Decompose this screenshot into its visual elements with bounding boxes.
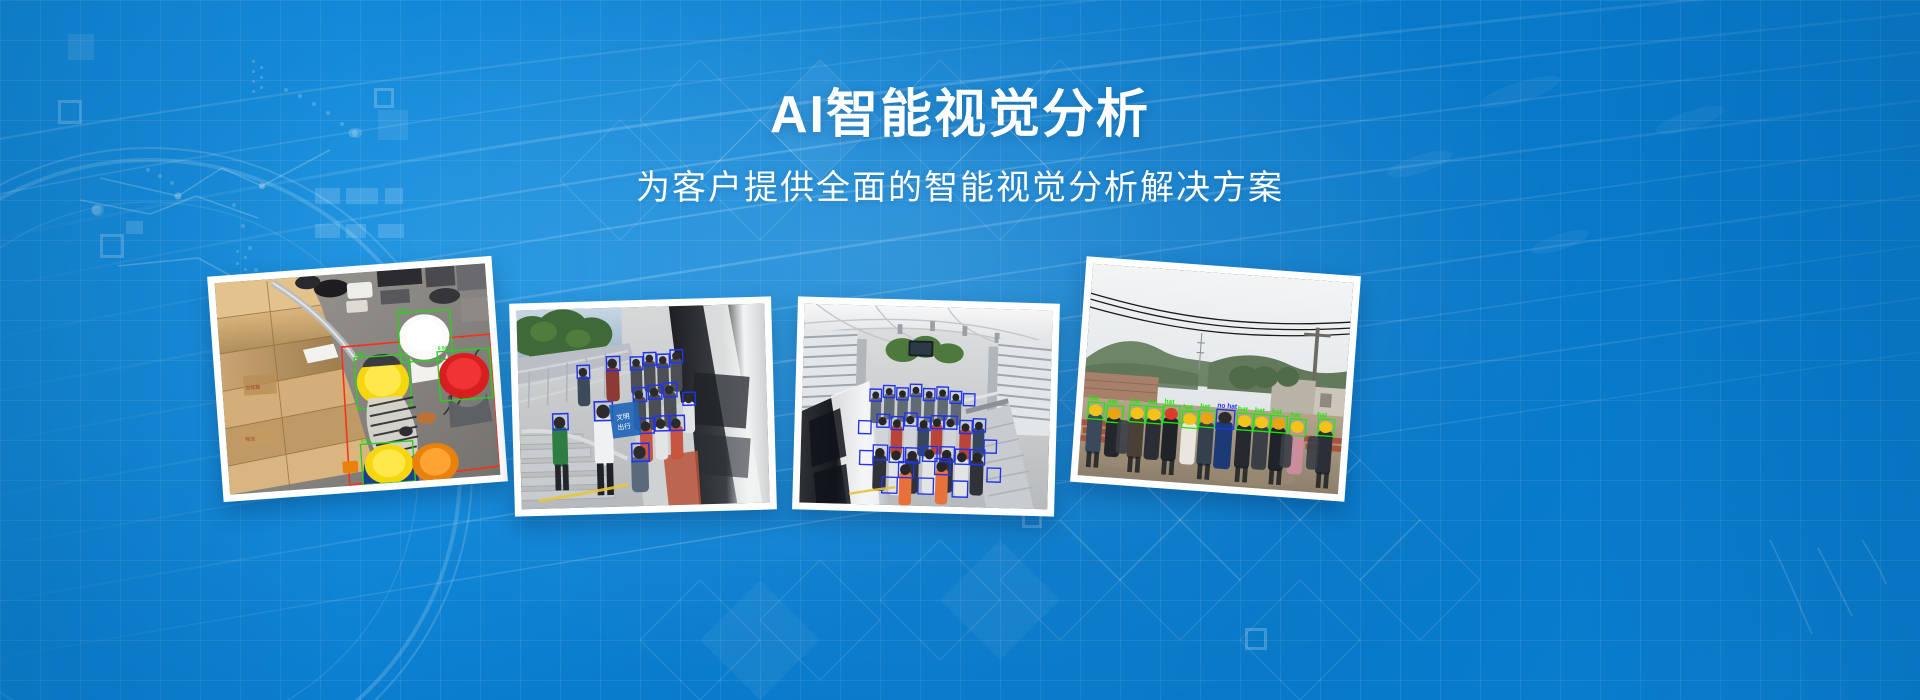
svg-text:0.93: 0.93 <box>361 438 371 445</box>
photo-footbridge-crowd: 文明 出行 <box>516 304 769 510</box>
svg-text:0.94: 0.94 <box>438 345 448 352</box>
svg-text:hat: hat <box>1317 412 1328 420</box>
photo-outdoor-worker-group: hat hat <box>1078 264 1354 495</box>
svg-text:hat: hat <box>1290 412 1301 420</box>
svg-text:hat: hat <box>1089 395 1100 403</box>
svg-text:hat: hat <box>1107 398 1118 406</box>
decor-square-filled <box>68 34 94 60</box>
ai-vision-banner: AI智能视觉分析 为客户提供全面的智能视觉分析解决方案 <box>0 0 1920 700</box>
svg-text:0.96: 0.96 <box>355 351 365 358</box>
photo-metro-platform-crowd <box>799 304 1052 510</box>
gallery-strip: 包装箱 物流 <box>0 246 1920 546</box>
svg-text:hat: hat <box>1130 398 1141 406</box>
gallery-card-worker-group[interactable]: hat hat <box>1070 256 1361 502</box>
headings-block: AI智能视觉分析 为客户提供全面的智能视觉分析解决方案 <box>0 86 1920 210</box>
svg-text:no hat: no hat <box>1217 402 1238 411</box>
decor-square-outline <box>1245 628 1267 650</box>
svg-text:hat: hat <box>1147 399 1158 407</box>
gallery-card-warehouse[interactable]: 包装箱 物流 <box>207 256 508 502</box>
svg-text:0.98: 0.98 <box>398 307 408 314</box>
svg-text:hat: hat <box>1200 403 1211 411</box>
svg-text:hat: hat <box>1183 404 1194 412</box>
svg-text:hat: hat <box>1255 407 1266 415</box>
gallery-card-metro-platform[interactable] <box>792 296 1060 516</box>
photo-warehouse-overhead: 包装箱 物流 <box>215 263 501 494</box>
page-title: AI智能视觉分析 <box>0 86 1920 146</box>
svg-text:hat: hat <box>1272 408 1283 416</box>
svg-text:hat: hat <box>1164 398 1175 406</box>
page-subtitle: 为客户提供全面的智能视觉分析解决方案 <box>0 166 1920 210</box>
gallery-card-footbridge[interactable]: 文明 出行 <box>509 296 777 516</box>
svg-text:hat: hat <box>1238 406 1249 414</box>
